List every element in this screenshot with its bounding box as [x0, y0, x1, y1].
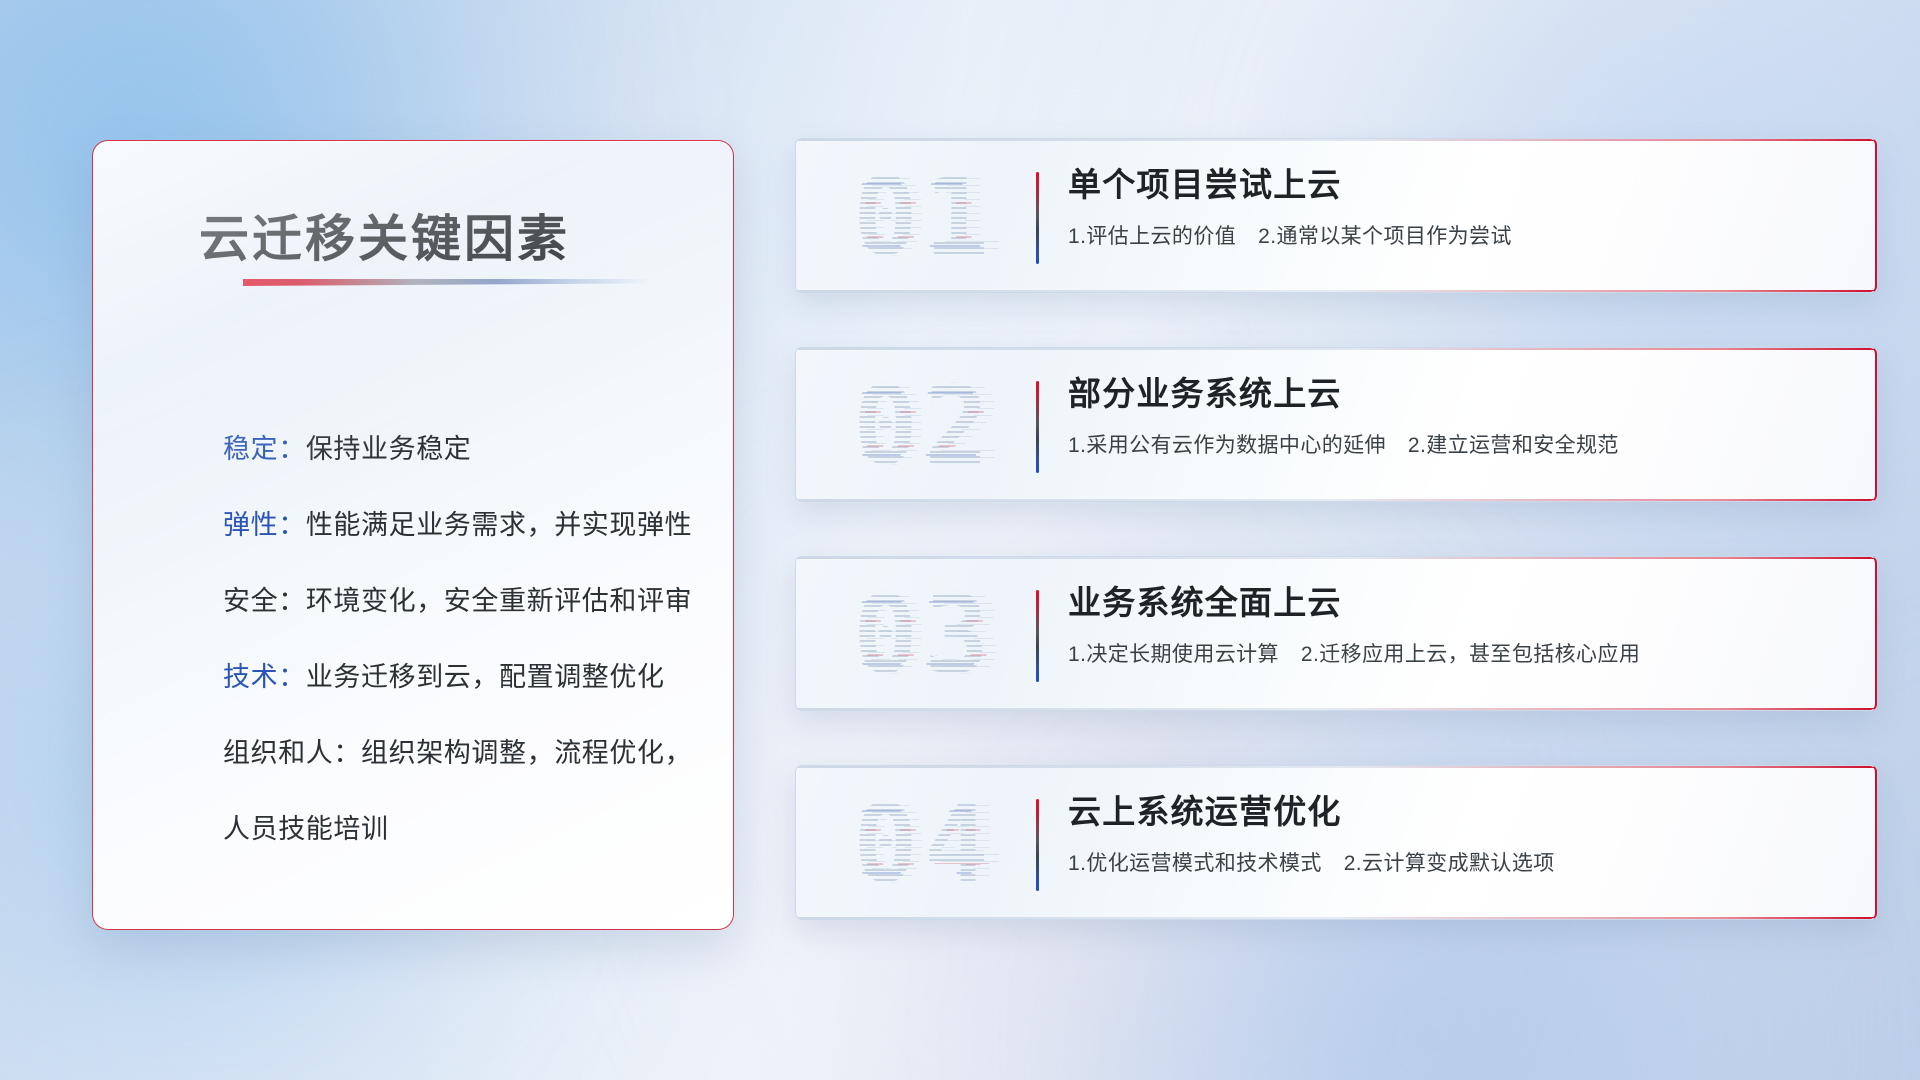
step-number-layer: 01	[831, 157, 1022, 277]
step-number-layer: 01	[826, 157, 1018, 277]
step-title: 业务系统全面上云	[1068, 583, 1835, 623]
step-number-layer: 03	[826, 575, 1018, 695]
step-point: 2.云计算变成默认选项	[1344, 852, 1555, 875]
step-card[interactable]: 03030303业务系统全面上云1.决定长期使用云计算2.迁移应用上云，甚至包括…	[795, 556, 1877, 711]
step-title: 云上系统运营优化	[1068, 792, 1835, 832]
factor-row: 弹性：性能满足业务需求，并实现弹性	[223, 487, 693, 563]
factor-value: 保持业务稳定	[306, 434, 472, 464]
step-number-layer: 02	[831, 366, 1022, 486]
factor-key: 技术：	[223, 662, 306, 692]
step-card[interactable]: 04040404云上系统运营优化1.优化运营模式和技术模式2.云计算变成默认选项	[795, 765, 1877, 920]
step-accent-bar	[1036, 381, 1039, 473]
step-number-graphic: 04040404	[826, 784, 1022, 904]
step-text-block: 业务系统全面上云1.决定长期使用云计算2.迁移应用上云，甚至包括核心应用	[1068, 583, 1835, 668]
step-number-layer: 01	[826, 157, 1022, 277]
step-point: 2.迁移应用上云，甚至包括核心应用	[1301, 643, 1640, 666]
step-number-layer: 02	[826, 366, 1018, 486]
step-number-layer: 02	[831, 366, 1022, 486]
step-number-layer: 02	[826, 366, 1022, 486]
step-accent-bar	[1036, 799, 1039, 891]
page-title: 云迁移关键因素	[199, 199, 570, 271]
step-title: 部分业务系统上云	[1068, 374, 1835, 414]
step-number-layer: 03	[831, 575, 1022, 695]
step-description: 1.采用公有云作为数据中心的延伸2.建立运营和安全规范	[1068, 429, 1835, 459]
step-number-graphic: 02020202	[826, 366, 1022, 486]
step-number-layer: 04	[826, 784, 1018, 904]
step-number-layer: 03	[826, 575, 1022, 695]
factor-list: 稳定：保持业务稳定弹性：性能满足业务需求，并实现弹性安全：环境变化，安全重新评估…	[223, 411, 693, 867]
step-description: 1.优化运营模式和技术模式2.云计算变成默认选项	[1068, 847, 1835, 877]
step-number-layer: 03	[831, 575, 1022, 695]
migration-steps-list: 01010101单个项目尝试上云1.评估上云的价值2.通常以某个项目作为尝试02…	[795, 138, 1877, 974]
factor-value: 性能满足业务需求，并实现弹性	[306, 510, 692, 540]
step-card[interactable]: 01010101单个项目尝试上云1.评估上云的价值2.通常以某个项目作为尝试	[795, 138, 1877, 293]
step-title: 单个项目尝试上云	[1068, 165, 1835, 205]
factor-row: 技术：业务迁移到云，配置调整优化	[223, 639, 693, 715]
factor-key: 组织和人：	[223, 738, 361, 768]
step-description: 1.评估上云的价值2.通常以某个项目作为尝试	[1068, 220, 1835, 250]
step-number-graphic: 03030303	[826, 575, 1022, 695]
step-point: 1.采用公有云作为数据中心的延伸	[1068, 434, 1386, 457]
factor-key: 弹性：	[223, 510, 306, 540]
step-point: 1.优化运营模式和技术模式	[1068, 852, 1322, 875]
step-number-layer: 01	[831, 157, 1022, 277]
step-point: 1.评估上云的价值	[1068, 225, 1236, 248]
factor-value: 业务迁移到云，配置调整优化	[306, 662, 665, 692]
step-number-graphic: 01010101	[826, 157, 1022, 277]
step-point: 2.建立运营和安全规范	[1408, 434, 1619, 457]
factor-row: 安全：环境变化，安全重新评估和评审	[223, 563, 693, 639]
key-factors-panel: 云迁移关键因素 稳定：保持业务稳定弹性：性能满足业务需求，并实现弹性安全：环境变…	[92, 140, 734, 930]
step-number-layer: 04	[826, 784, 1022, 904]
factor-value: 环境变化，安全重新评估和评审	[306, 586, 692, 616]
step-description: 1.决定长期使用云计算2.迁移应用上云，甚至包括核心应用	[1068, 638, 1835, 668]
step-accent-bar	[1036, 590, 1039, 682]
step-number-layer: 04	[831, 784, 1022, 904]
step-text-block: 云上系统运营优化1.优化运营模式和技术模式2.云计算变成默认选项	[1068, 792, 1835, 877]
step-point: 2.通常以某个项目作为尝试	[1258, 225, 1512, 248]
step-point: 1.决定长期使用云计算	[1068, 643, 1279, 666]
step-accent-bar	[1036, 172, 1039, 264]
factor-row: 稳定：保持业务稳定	[223, 411, 693, 487]
step-card[interactable]: 02020202部分业务系统上云1.采用公有云作为数据中心的延伸2.建立运营和安…	[795, 347, 1877, 502]
step-text-block: 部分业务系统上云1.采用公有云作为数据中心的延伸2.建立运营和安全规范	[1068, 374, 1835, 459]
factor-key: 安全：	[223, 586, 306, 616]
step-number-layer: 04	[831, 784, 1022, 904]
factor-row: 组织和人：组织架构调整，流程优化，人员技能培训	[223, 715, 693, 867]
step-text-block: 单个项目尝试上云1.评估上云的价值2.通常以某个项目作为尝试	[1068, 165, 1835, 250]
title-underline-rule	[243, 279, 651, 286]
factor-key: 稳定：	[223, 434, 306, 464]
